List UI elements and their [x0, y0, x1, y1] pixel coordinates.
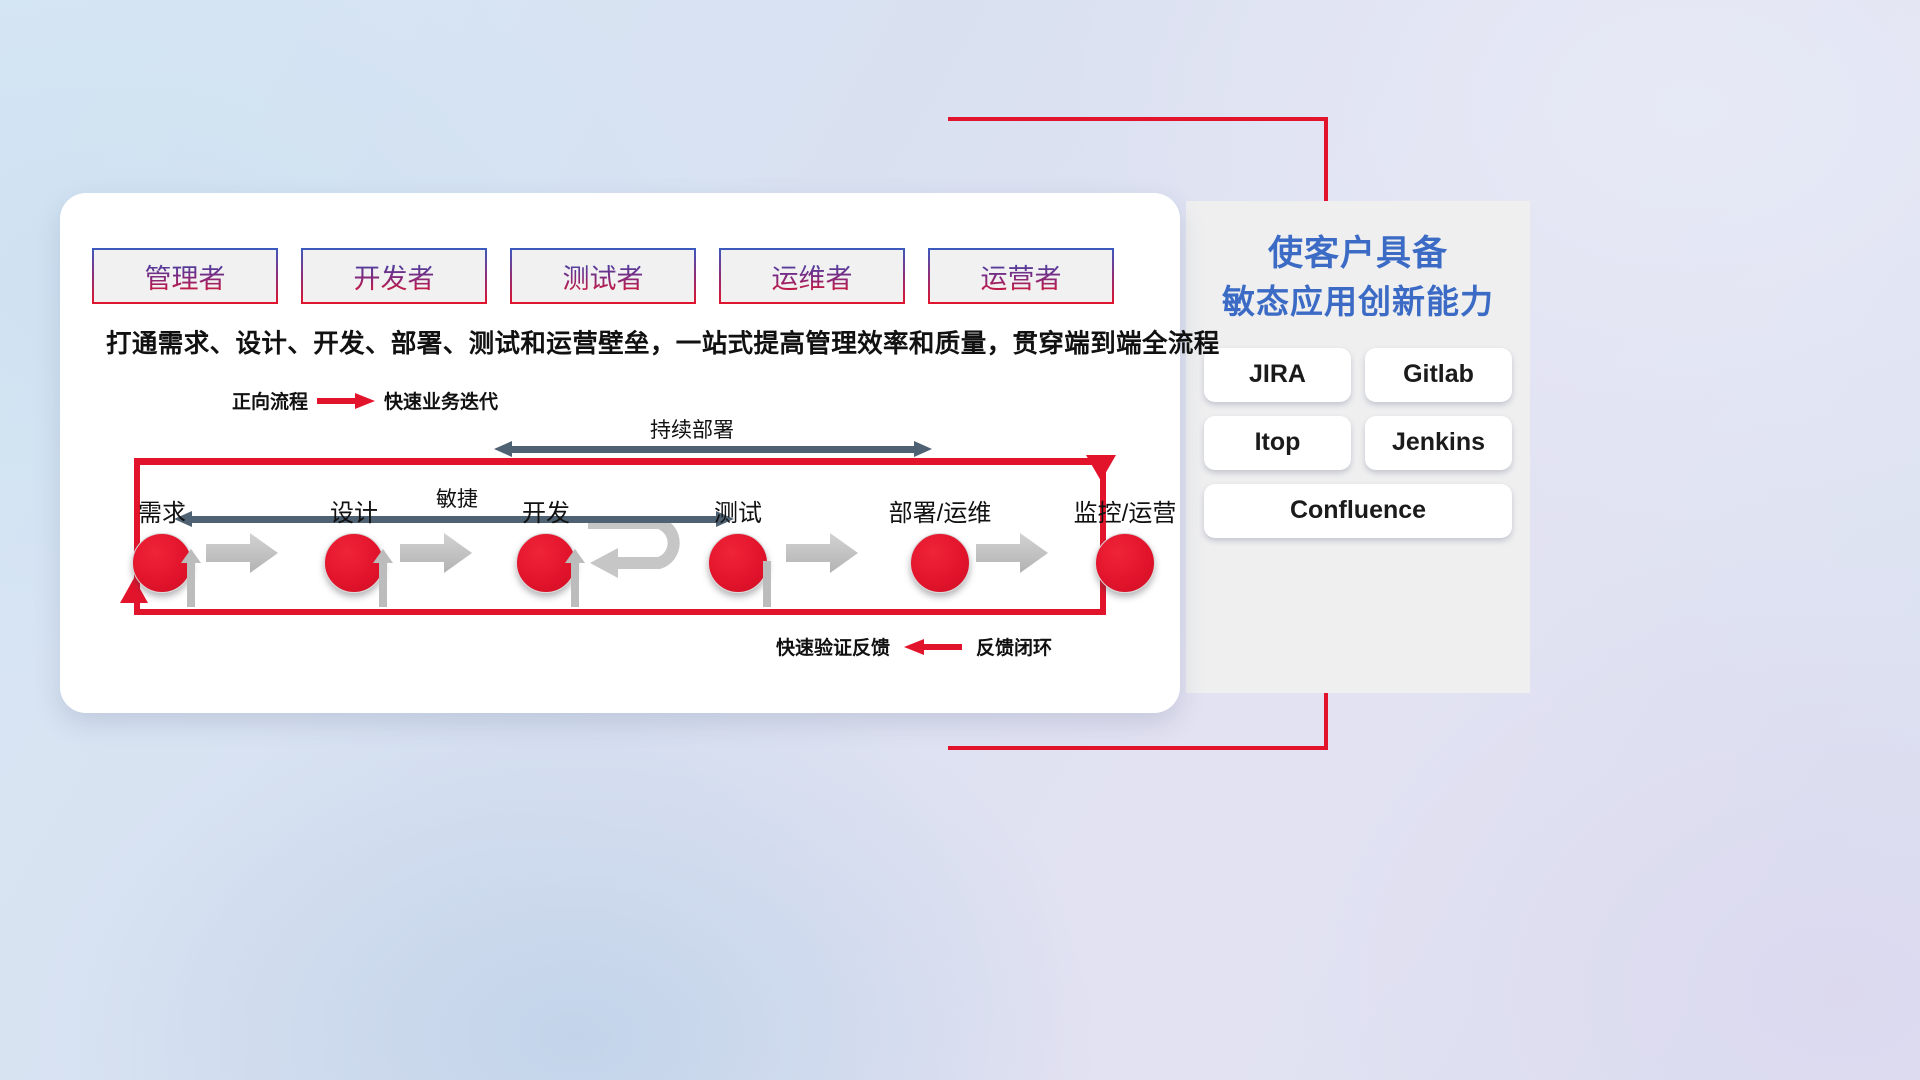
flow-arrow-icon	[786, 533, 858, 573]
main-card: 管理者 开发者 测试者 运维者 运营者 打通需求、设计、开发、部署、测试和运营壁…	[60, 193, 1180, 713]
flow-arrow-icon	[206, 533, 278, 573]
red-arrow-left-icon	[904, 641, 962, 652]
pipeline-node-dot	[910, 533, 970, 593]
role-box-ops[interactable]: 运维者	[719, 248, 905, 304]
pipeline-row: 需求 设计 开发 测试 部署/运维 监控/运营	[60, 493, 1180, 623]
right-panel-title: 使客户具备 敏态应用创新能力	[1204, 229, 1512, 326]
legend-forward-to: 快速业务迭代	[384, 387, 498, 414]
pipeline-node-label: 监控/运营	[1035, 493, 1215, 528]
legend-forward-flow: 正向流程 快速业务迭代	[232, 387, 498, 414]
role-label: 运维者	[772, 257, 853, 296]
right-panel-title-line1: 使客户具备	[1204, 229, 1512, 279]
pipeline-node-label: 需求	[102, 493, 222, 528]
flow-arrow-icon	[400, 533, 472, 573]
pipeline-node-design[interactable]: 设计	[294, 493, 414, 593]
arrow-head-right-icon	[914, 441, 932, 457]
right-panel: 使客户具备 敏态应用创新能力 JIRA Gitlab Itop Jenkins …	[1186, 201, 1530, 693]
pipeline-node-monitor-operations[interactable]: 监控/运营	[1035, 493, 1215, 593]
pipeline-node-dot	[708, 533, 768, 593]
role-label: 开发者	[354, 257, 435, 296]
role-label: 测试者	[563, 257, 644, 296]
pipeline-node-testing[interactable]: 测试	[678, 493, 798, 593]
loop-back-arrow-icon	[584, 523, 692, 585]
role-label: 管理者	[145, 257, 226, 296]
role-box-manager[interactable]: 管理者	[92, 248, 278, 304]
span-arrow-continuous-deployment	[494, 441, 932, 457]
red-loop-arrow-down-icon	[1086, 455, 1116, 481]
pipeline-node-dot	[324, 533, 384, 593]
pipeline-node-dot	[132, 533, 192, 593]
flow-arrow-icon	[976, 533, 1048, 573]
tool-pill-itop[interactable]: Itop	[1204, 416, 1351, 470]
tool-pill-gitlab[interactable]: Gitlab	[1365, 348, 1512, 402]
node-connector-stub	[571, 561, 579, 607]
node-connector-stub	[379, 561, 387, 607]
role-box-tester[interactable]: 测试者	[510, 248, 696, 304]
legend-feedback-from: 快速验证反馈	[776, 633, 890, 660]
role-box-operator[interactable]: 运营者	[928, 248, 1114, 304]
red-arrow-right-icon	[317, 395, 375, 406]
pipeline-node-dot	[516, 533, 576, 593]
pipeline-node-label: 设计	[294, 493, 414, 528]
pipeline-node-label: 部署/运维	[850, 493, 1030, 528]
pipeline-node-dot	[1095, 533, 1155, 593]
role-box-row: 管理者 开发者 测试者 运维者 运营者	[92, 248, 1114, 304]
node-connector-stub	[763, 561, 771, 607]
legend-forward-from: 正向流程	[232, 387, 308, 414]
span-label-continuous-deployment: 持续部署	[650, 414, 734, 444]
legend-feedback-loop: 快速验证反馈 反馈闭环	[776, 633, 1052, 660]
tool-pill-jira[interactable]: JIRA	[1204, 348, 1351, 402]
tool-pill-jenkins[interactable]: Jenkins	[1365, 416, 1512, 470]
pipeline-node-label: 测试	[678, 493, 798, 528]
tool-pill-confluence[interactable]: Confluence	[1204, 484, 1512, 538]
legend-feedback-to: 反馈闭环	[976, 633, 1052, 660]
role-label: 运营者	[981, 257, 1062, 296]
role-box-developer[interactable]: 开发者	[301, 248, 487, 304]
tool-pill-grid: JIRA Gitlab Itop Jenkins Confluence	[1204, 348, 1512, 538]
pipeline-node-requirement[interactable]: 需求	[102, 493, 222, 593]
right-panel-title-line2: 敏态应用创新能力	[1204, 279, 1512, 326]
description-text: 打通需求、设计、开发、部署、测试和运营壁垒，一站式提高管理效率和质量，贯穿端到端…	[106, 323, 1146, 360]
arrow-shaft	[510, 446, 916, 453]
node-connector-stub	[187, 561, 195, 607]
